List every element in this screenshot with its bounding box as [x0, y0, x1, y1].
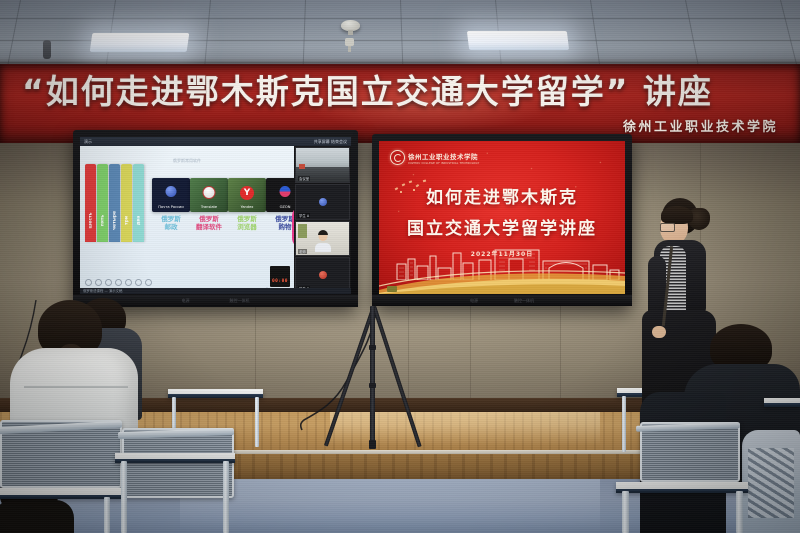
college-name-en: XUZHOU COLLEGE OF INDUSTRIAL TECHNOLOGY	[408, 162, 479, 165]
tab-label: три	[124, 216, 129, 225]
led-panel-light-left	[90, 33, 190, 52]
right-interactive-display[interactable]: 徐州工业职业技术学院 XUZHOU COLLEGE OF INDUSTRIAL …	[372, 134, 632, 306]
left-display-power-label: 电源	[182, 298, 190, 304]
russian-number-tabs: шесть пять четыре три два	[85, 164, 145, 242]
tab-russian-3[interactable]: четыре	[109, 164, 120, 242]
app-card-label: 俄罗斯 邮政	[152, 215, 190, 231]
desk-far-right	[764, 398, 800, 407]
app-card-russian-translator[interactable]: Translate 俄罗斯 翻译软件	[190, 178, 228, 231]
more-tools-icon[interactable]	[145, 279, 152, 286]
meeting-topbar: 演示 共享屏幕 结束会议	[80, 137, 351, 146]
tab-label: четыре	[112, 211, 117, 230]
left-interactive-display[interactable]: 演示 共享屏幕 结束会议 俄罗斯常用软件 шесть пять четыре т…	[73, 130, 358, 307]
video-tile-name: 会议室	[298, 176, 310, 181]
jacket-print	[748, 448, 794, 518]
desk-front-right	[616, 482, 748, 493]
participant-video-strip[interactable]: 会议室 学生 A 老师 学生 B	[294, 146, 351, 294]
app-name: Почта России	[152, 205, 190, 209]
wall-speaker	[43, 40, 51, 59]
video-tile-teacher[interactable]: 老师	[295, 221, 350, 257]
college-emblem-icon	[390, 150, 405, 165]
banner-subtitle: 徐州工业职业技术学院	[623, 116, 778, 135]
jacket-seam	[24, 386, 128, 388]
title-slide: 徐州工业职业技术学院 XUZHOU COLLEGE OF INDUSTRIAL …	[379, 141, 625, 294]
presenter-fringe	[661, 206, 693, 224]
meeting-topbar-right[interactable]: 共享屏幕 结束会议	[314, 139, 347, 145]
desk-leg	[736, 491, 743, 533]
shape-tool-icon[interactable]	[115, 279, 122, 286]
video-tile-name: 学生 A	[298, 213, 310, 218]
app-name: Yandex	[228, 205, 266, 209]
pochta-rossii-icon: Почта России	[152, 178, 190, 212]
slide-heading-line2: 国立交通大学留学讲座	[379, 214, 625, 239]
tripod-lock-knob-lower[interactable]	[369, 383, 376, 388]
pen-tool-icon[interactable]	[85, 279, 92, 286]
app-card-list: Почта России 俄罗斯 邮政 Translate 俄罗斯 翻译软件	[152, 178, 288, 231]
tripod-center-column	[370, 306, 375, 448]
tab-russian-4[interactable]: три	[121, 164, 132, 242]
meeting-timer: 00:00	[270, 266, 290, 287]
presenter-glasses	[660, 223, 675, 232]
college-name-cn: 徐州工业职业技术学院	[408, 151, 479, 161]
tripod-lock-knob-upper[interactable]	[369, 345, 376, 350]
desk-leg	[121, 461, 127, 533]
app-name: Translate	[190, 205, 228, 209]
yandex-icon: Y Yandex	[228, 178, 266, 212]
app-card-russian-post[interactable]: Почта России 俄罗斯 邮政	[152, 178, 190, 231]
left-screen-content[interactable]: 演示 共享屏幕 结束会议 俄罗斯常用软件 шесть пять четыре т…	[80, 137, 351, 294]
presenter-hand	[652, 326, 666, 338]
chair-back-center	[122, 428, 234, 498]
tab-russian-2[interactable]: пять	[97, 164, 108, 242]
app-card-label: 俄罗斯 浏览器	[228, 215, 266, 231]
tab-label: пять	[100, 215, 105, 226]
banner-title: “如何走进鄂木斯克国立交通大学留学” 讲座	[22, 72, 782, 112]
desk-leg	[622, 396, 626, 452]
annotation-toolbar[interactable]	[85, 279, 152, 286]
undo-icon[interactable]	[125, 279, 132, 286]
translate-app-icon: Translate	[190, 178, 228, 212]
student-shoulder	[0, 500, 74, 533]
video-tile-name: 老师	[298, 249, 307, 254]
desk-leg	[622, 491, 629, 533]
right-display-power-label: 电源	[470, 298, 478, 304]
app-card-label: 俄罗斯 翻译软件	[190, 215, 228, 231]
video-tile-student-a[interactable]: 学生 A	[295, 184, 350, 220]
slide-heading-line1: 如何走进鄂木斯克	[379, 183, 625, 208]
classroom-photo: “如何走进鄂木斯克国立交通大学留学” 讲座 徐州工业职业技术学院 演示 共享屏幕…	[0, 0, 800, 533]
smoke-detector-stem	[348, 30, 353, 35]
eraser-tool-icon[interactable]	[95, 279, 102, 286]
desk-mid-left	[115, 453, 235, 463]
desk-leg	[255, 397, 259, 447]
tab-label: два	[136, 216, 141, 226]
led-panel-light-right	[467, 31, 569, 50]
desk-leg	[104, 497, 110, 533]
app-card-russian-browser[interactable]: Y Yandex 俄罗斯 浏览器	[228, 178, 266, 231]
meeting-timer-value: 00:00	[272, 279, 288, 284]
video-tile-room[interactable]: 会议室	[295, 147, 350, 183]
tab-russian-1[interactable]: шесть	[85, 164, 96, 242]
left-display-brand-label: 触控一体机	[230, 298, 250, 304]
golden-ribbon-decoration	[379, 268, 625, 294]
meeting-topbar-left: 演示	[84, 139, 92, 145]
shared-slide-area: 俄罗斯常用软件 шесть пять четыре три два	[80, 146, 294, 294]
tripod-foot	[369, 440, 376, 449]
screen-corner-badge	[387, 286, 397, 292]
student-right-foreground	[742, 430, 800, 533]
sprinkler-head-icon	[345, 38, 354, 46]
screen-status-bar: 俄罗斯语课程 — 演示文稿	[80, 288, 351, 294]
desk-back-left	[168, 389, 263, 398]
highlighter-tool-icon[interactable]	[105, 279, 112, 286]
right-display-brand-label: 触控一体机	[514, 298, 534, 304]
college-logo: 徐州工业职业技术学院 XUZHOU COLLEGE OF INDUSTRIAL …	[390, 150, 479, 165]
desk-leg	[223, 461, 229, 533]
screen-status-text: 俄罗斯语课程 — 演示文稿	[83, 288, 351, 294]
right-display-chin: 电源 触控一体机	[372, 295, 632, 306]
tab-russian-5[interactable]: два	[133, 164, 144, 242]
redo-icon[interactable]	[135, 279, 142, 286]
tab-label: шесть	[88, 213, 93, 229]
